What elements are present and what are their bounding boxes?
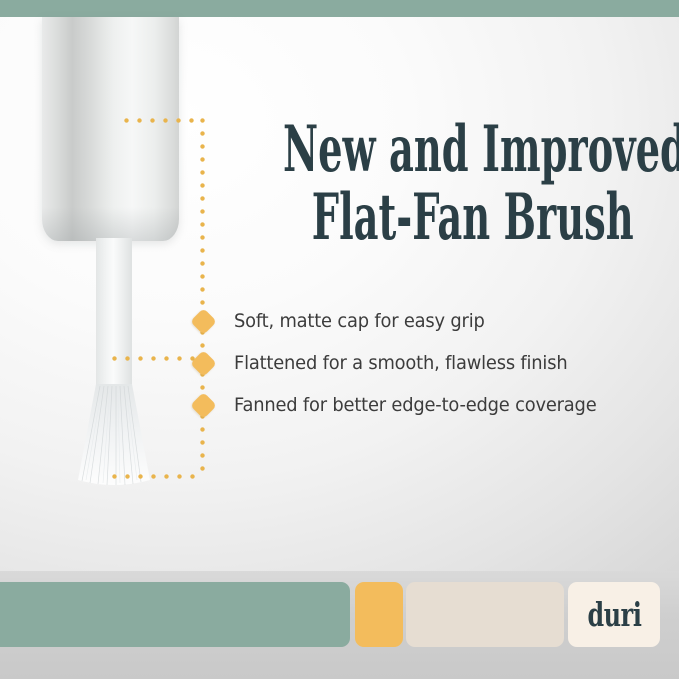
list-item: Flattened for a smooth, flawless finish (188, 342, 658, 384)
brand-logo-card: duri (568, 582, 660, 647)
product-poster: New and Improved Flat-Fan Brush Soft, ma… (0, 0, 679, 679)
leader-line-to-cap (124, 118, 202, 123)
color-swatch-beige (406, 582, 564, 647)
feature-list: Soft, matte cap for easy grip Flattened … (188, 300, 658, 426)
leader-line-vertical-top (200, 118, 205, 314)
feature-text: Soft, matte cap for easy grip (234, 310, 485, 332)
headline-line-1: New and Improved (283, 116, 499, 184)
top-brand-bar (0, 0, 679, 17)
brush-stem (96, 238, 132, 388)
list-item: Soft, matte cap for easy grip (188, 300, 658, 342)
color-swatch-sage (0, 582, 350, 647)
feature-text: Fanned for better edge-to-edge coverage (234, 394, 597, 416)
leader-line-to-bristles (112, 474, 202, 479)
color-swatch-amber (355, 582, 403, 647)
headline: New and Improved Flat-Fan Brush (283, 116, 643, 252)
list-item: Fanned for better edge-to-edge coverage (188, 384, 658, 426)
headline-line-2: Flat-Fan Brush (283, 184, 499, 252)
bottom-brand-strip: duri (0, 571, 679, 679)
brand-logo-text: duri (587, 595, 641, 634)
diamond-bullet-icon (190, 308, 217, 335)
diamond-bullet-icon (190, 350, 217, 377)
diamond-bullet-icon (190, 392, 217, 419)
feature-text: Flattened for a smooth, flawless finish (234, 352, 567, 374)
brush-cap-image (42, 17, 179, 241)
cap-shadow (42, 207, 179, 241)
